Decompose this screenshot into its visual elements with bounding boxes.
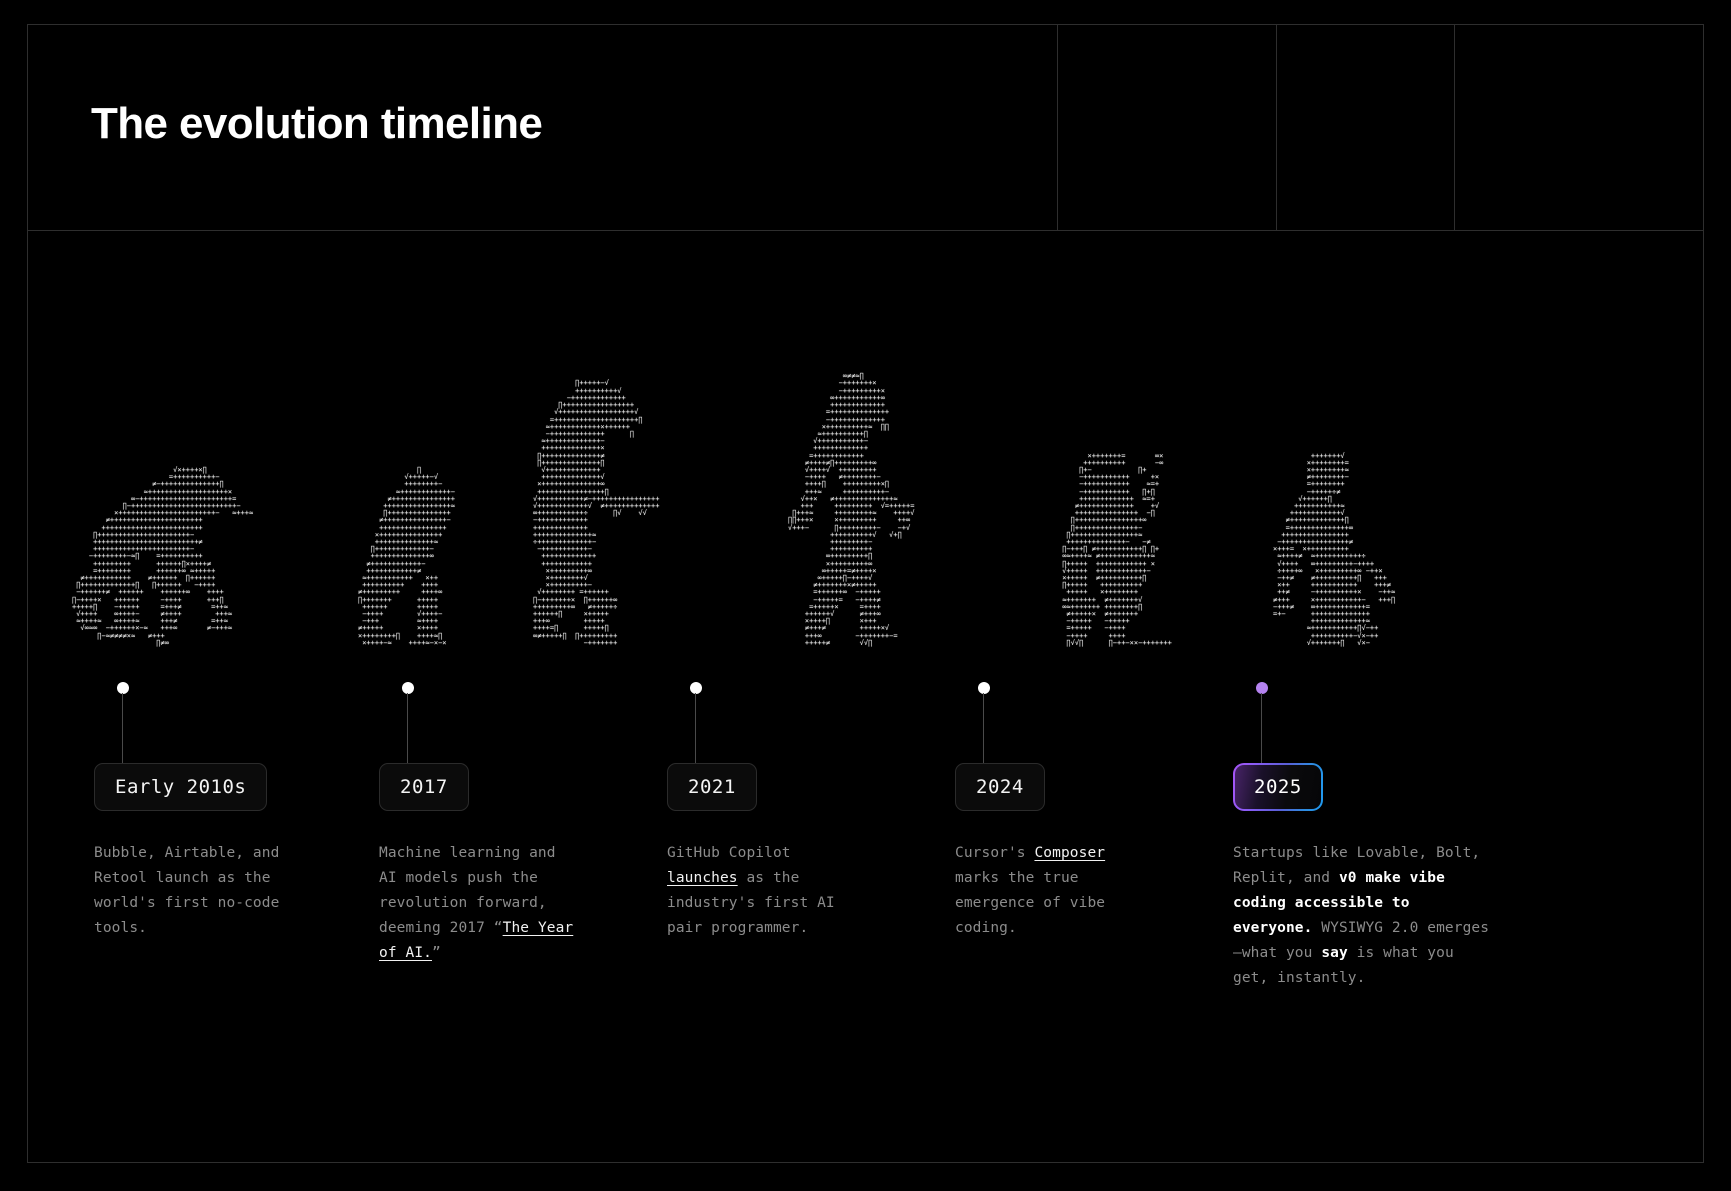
- timeline-stem: [983, 693, 984, 767]
- header-grid-divider-3: [1454, 25, 1455, 231]
- ascii-figure-2-hunched: ∏ √+++++−√ ++++++++− ≈++++++++++++− ≠+++…: [358, 467, 455, 647]
- ascii-figure-6-modern: +++++++√ ×++++++++= ×++++++++≈ ≠++++++++…: [1273, 453, 1395, 647]
- timeline-date-chip[interactable]: 2021: [667, 763, 757, 811]
- text-run: ”: [432, 945, 441, 961]
- timeline-date-chip[interactable]: 2017: [379, 763, 469, 811]
- timeline-date-chip-label: 2025: [1235, 765, 1321, 809]
- timeline-dot-icon: [117, 682, 129, 694]
- timeline-stem: [695, 693, 696, 767]
- ascii-figure-4-striding: ∞≠≠≈∏ −+++++++× −+++++++++× ∞+++++++++++…: [788, 373, 914, 647]
- timeline-dot-icon: [690, 682, 702, 694]
- text-run: Cursor's: [955, 845, 1034, 861]
- timeline-date-chip[interactable]: 2024: [955, 763, 1045, 811]
- timeline-items: Early 2010s Bubble, Airtable, and Retool…: [28, 649, 1703, 1163]
- ascii-figure-5-upright: ×+++++++= ∞× ++++++++++ −∞ ∏+− ∏+ −+++++…: [1058, 453, 1172, 647]
- emphasis-run[interactable]: Composer: [1034, 845, 1105, 861]
- card-header: The evolution timeline: [28, 25, 1703, 231]
- timeline-stem: [122, 693, 123, 767]
- emphasis-run[interactable]: launches: [667, 870, 738, 886]
- page-title: The evolution timeline: [91, 99, 542, 149]
- header-grid-divider-2: [1276, 25, 1277, 231]
- text-run: marks the true emergence of vibe coding.: [955, 870, 1105, 936]
- text-run: GitHub Copilot: [667, 845, 791, 861]
- timeline-dot-icon: [402, 682, 414, 694]
- timeline-stem: [407, 693, 408, 767]
- timeline-description: Bubble, Airtable, and Retool launch as t…: [94, 841, 294, 941]
- ascii-art-row: √×++++×∏ =++++++++++− ≠−++++++++++++++∏ …: [28, 231, 1703, 649]
- timeline-description: GitHub Copilot launches as the industry'…: [667, 841, 867, 941]
- timeline-description: Machine learning and AI models push the …: [379, 841, 579, 966]
- header-grid-divider-1: [1057, 25, 1058, 231]
- timeline-description: Cursor's Composer marks the true emergen…: [955, 841, 1155, 941]
- timeline-date-chip[interactable]: Early 2010s: [94, 763, 267, 811]
- timeline-stage: √×++++×∏ =++++++++++− ≠−++++++++++++++∏ …: [28, 231, 1703, 1163]
- ascii-figure-3-straightening: ∏+++++−√ ++++++++++√ −+++++++++++++ ∏+++…: [533, 380, 659, 647]
- timeline-stem: [1261, 693, 1262, 767]
- timeline-dot-icon: [978, 682, 990, 694]
- timeline-date-chip-active[interactable]: 2025: [1233, 763, 1323, 811]
- text-run: Bubble, Airtable, and Retool launch as t…: [94, 845, 279, 936]
- timeline-card: The evolution timeline √×++++×∏ =+++++++…: [27, 24, 1704, 1163]
- timeline-dot-active-icon: [1256, 682, 1268, 694]
- emphasis-run: say: [1321, 945, 1348, 961]
- timeline-description: Startups like Lovable, Bolt, Replit, and…: [1233, 841, 1495, 991]
- ascii-figure-1-crouching: √×++++×∏ =++++++++++− ≠−++++++++++++++∏ …: [72, 467, 253, 647]
